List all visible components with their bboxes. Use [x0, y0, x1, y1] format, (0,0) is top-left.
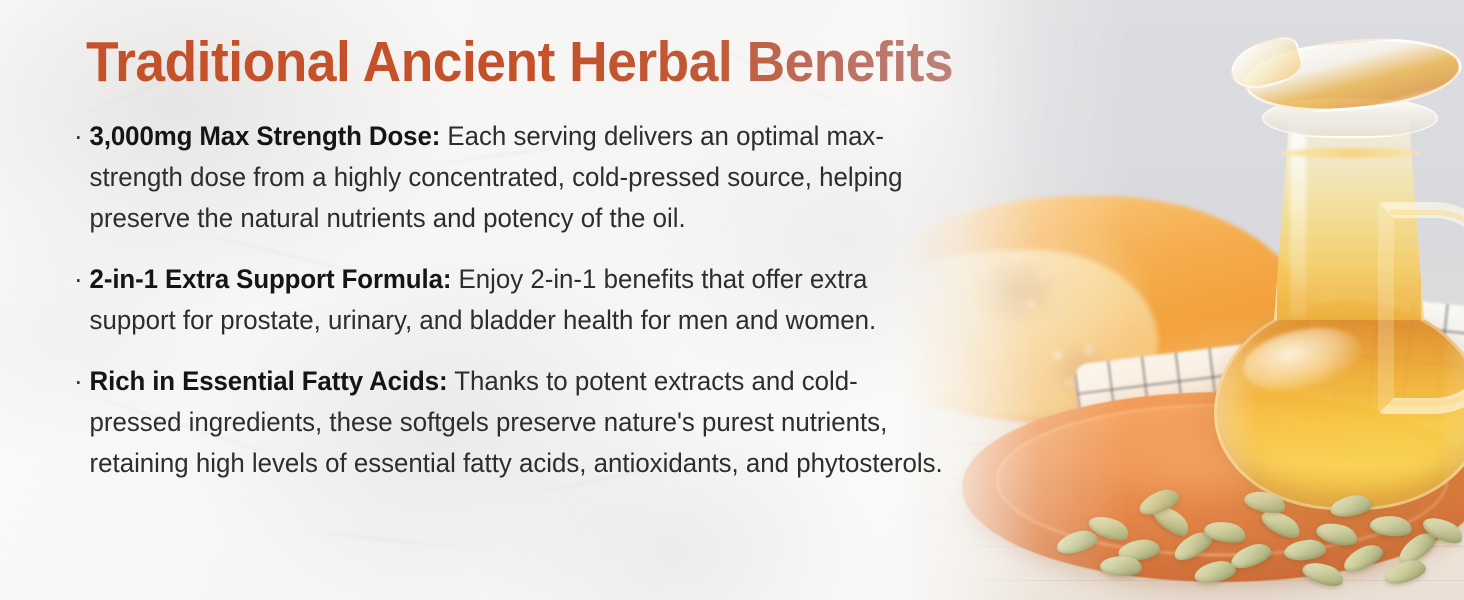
bullet-marker-icon: ·: [74, 116, 83, 157]
product-benefits-banner: Traditional Ancient Herbal Benefits ·3,0…: [0, 0, 1464, 600]
text-column: Traditional Ancient Herbal Benefits ·3,0…: [0, 0, 1010, 600]
page-title: Traditional Ancient Herbal Benefits: [86, 33, 953, 93]
bullet-marker-icon: ·: [74, 259, 83, 300]
benefit-lead-dose: 3,000mg Max Strength Dose:: [90, 121, 441, 151]
pumpkin-seeds: [1054, 470, 1454, 580]
benefit-item-dose: ·3,000mg Max Strength Dose: Each serving…: [72, 116, 950, 239]
benefit-item-formula: ·2-in-1 Extra Support Formula: Enjoy 2-i…: [72, 259, 950, 341]
pitcher-neck-shine: [1290, 130, 1306, 318]
oil-surface-line: [1280, 148, 1420, 158]
pitcher-handle-inner: [1388, 210, 1464, 406]
benefit-lead-fatty-acids: Rich in Essential Fatty Acids:: [90, 366, 448, 396]
benefits-list: ·3,000mg Max Strength Dose: Each serving…: [72, 116, 972, 484]
benefit-lead-formula: 2-in-1 Extra Support Formula:: [90, 264, 452, 294]
benefit-item-fatty-acids: ·Rich in Essential Fatty Acids: Thanks t…: [72, 361, 950, 484]
bullet-marker-icon: ·: [74, 361, 83, 402]
